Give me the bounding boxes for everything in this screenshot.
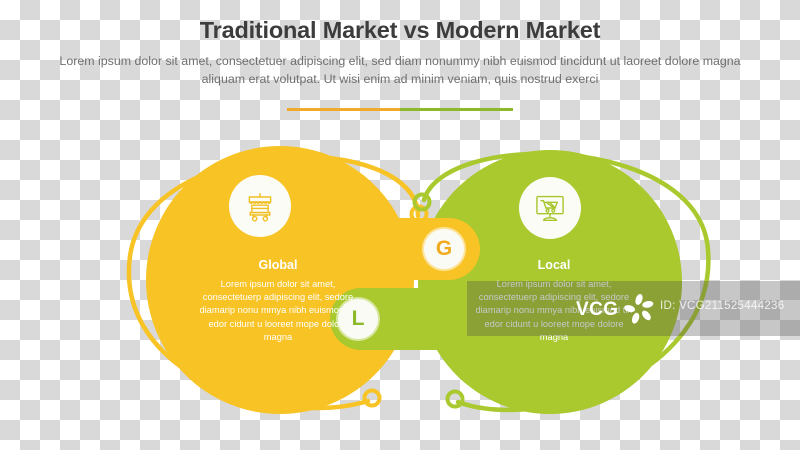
market-stall-icon bbox=[242, 188, 278, 224]
divider-right-half bbox=[400, 108, 513, 111]
page-subtitle: Lorem ipsum dolor sit amet, consectetuer… bbox=[0, 53, 800, 89]
panel-text-global: Global Lorem ipsum dolor sit amet, conse… bbox=[198, 258, 358, 344]
infographic-canvas: Traditional Market vs Modern Market Lore… bbox=[0, 0, 800, 450]
badge-letter-g[interactable]: G bbox=[424, 229, 464, 269]
header-divider bbox=[287, 108, 513, 111]
badge-letter-l[interactable]: L bbox=[338, 299, 378, 339]
divider-left-half bbox=[287, 108, 400, 111]
online-shopping-cart-monitor-icon bbox=[532, 190, 568, 226]
icon-disc-local bbox=[519, 177, 581, 239]
page-title: Traditional Market vs Modern Market bbox=[0, 18, 800, 44]
panel-body-local: Lorem ipsum dolor sit amet, consectetuer… bbox=[474, 278, 634, 344]
panel-body-global: Lorem ipsum dolor sit amet, consectetuer… bbox=[198, 278, 358, 344]
panel-heading-local: Local bbox=[474, 258, 634, 273]
header: Traditional Market vs Modern Market Lore… bbox=[0, 18, 800, 89]
panel-text-local: Local Lorem ipsum dolor sit amet, consec… bbox=[474, 258, 634, 344]
icon-disc-global bbox=[229, 175, 291, 237]
panel-heading-global: Global bbox=[198, 258, 358, 273]
badge-l-label: L bbox=[352, 307, 365, 331]
badge-g-label: G bbox=[436, 237, 452, 261]
